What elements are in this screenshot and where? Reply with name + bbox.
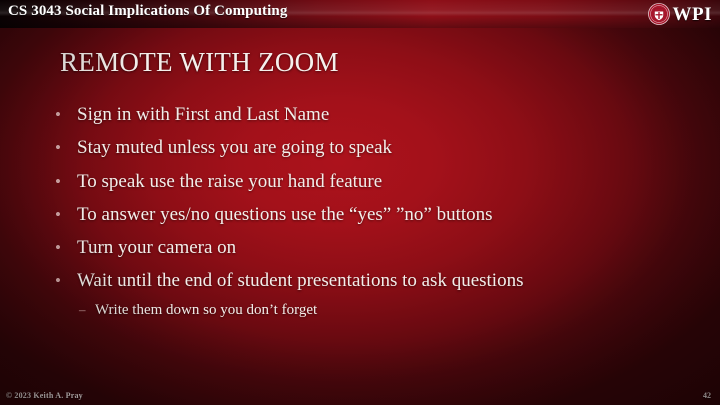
bullet-text: Wait until the end of student presentati… <box>77 270 523 291</box>
sub-bullet-marker-icon: – <box>79 303 95 316</box>
bullet-marker-icon: • <box>55 106 77 123</box>
slide-title: REMOTE WITH ZOOM <box>60 47 339 78</box>
wpi-wordmark: WPI <box>673 5 713 24</box>
wpi-crest-seal-icon <box>648 3 670 25</box>
slide-header-bar: CS 3043 Social Implications Of Computing… <box>0 0 720 28</box>
footer-copyright: © 2023 Keith A. Pray <box>6 391 83 400</box>
bullet-text: Sign in with First and Last Name <box>77 104 329 125</box>
bullet-marker-icon: • <box>55 139 77 156</box>
presentation-slide: CS 3043 Social Implications Of Computing… <box>0 0 720 405</box>
bullet-marker-icon: • <box>55 173 77 190</box>
bullet-item: • Turn your camera on <box>55 237 695 258</box>
sub-bullet-text: Write them down so you don’t forget <box>95 302 317 319</box>
course-title: CS 3043 Social Implications Of Computing <box>8 3 287 20</box>
slide-page-number: 42 <box>703 391 711 400</box>
bullet-marker-icon: • <box>55 272 77 289</box>
bullet-marker-icon: • <box>55 206 77 223</box>
bullet-item: • Wait until the end of student presenta… <box>55 270 695 291</box>
bullet-text: Turn your camera on <box>77 237 236 258</box>
bullet-text: To speak use the raise your hand feature <box>77 171 382 192</box>
bullet-marker-icon: • <box>55 239 77 256</box>
bullet-list: • Sign in with First and Last Name • Sta… <box>55 104 695 328</box>
wpi-logo: WPI <box>648 1 713 27</box>
bullet-text: Stay muted unless you are going to speak <box>77 137 392 158</box>
sub-bullet-item: – Write them down so you don’t forget <box>55 302 695 319</box>
bullet-item: • Sign in with First and Last Name <box>55 104 695 125</box>
bullet-text: To answer yes/no questions use the “yes”… <box>77 204 493 225</box>
bullet-item: • To answer yes/no questions use the “ye… <box>55 204 695 225</box>
bullet-item: • To speak use the raise your hand featu… <box>55 171 695 192</box>
bullet-item: • Stay muted unless you are going to spe… <box>55 137 695 158</box>
